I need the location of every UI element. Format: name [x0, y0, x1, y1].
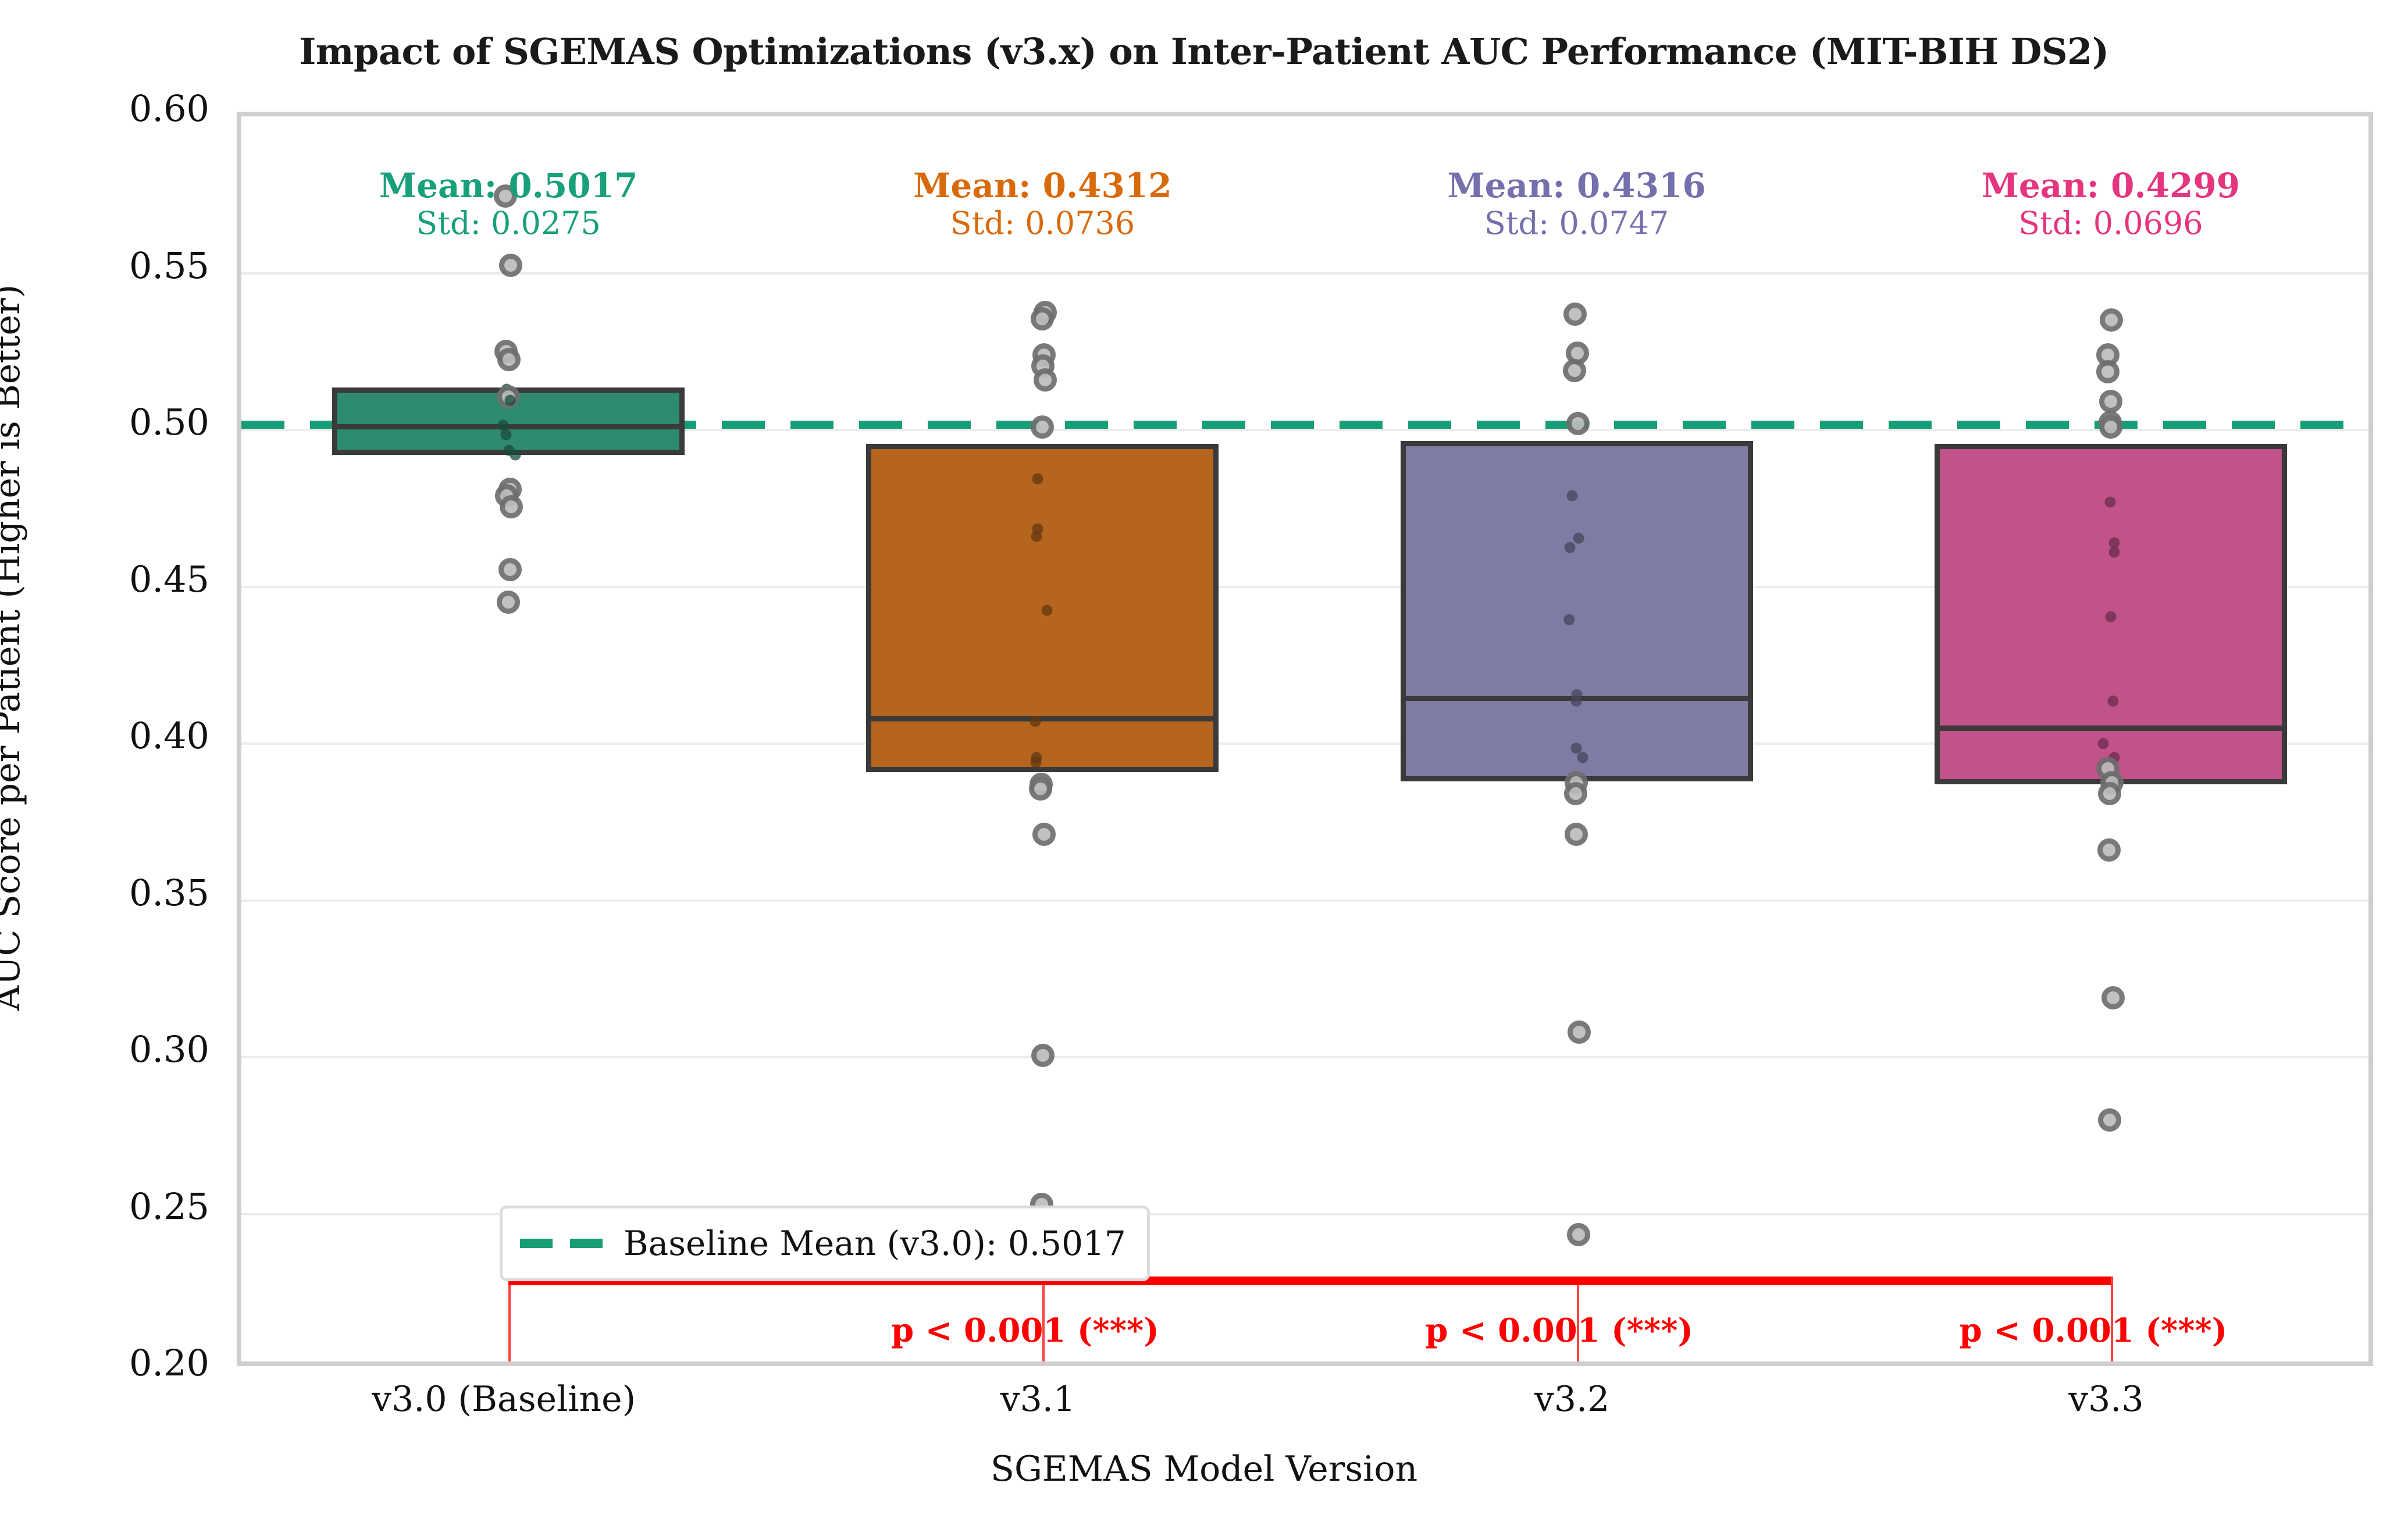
- y-tick-label: 0.20: [35, 1342, 209, 1384]
- y-axis-label: AUC Score per Patient (Higher is Better): [0, 20, 28, 1275]
- x-tick-label-v3.1: v3.1: [1000, 1379, 1075, 1420]
- x-tick-label-v3.3: v3.3: [2068, 1379, 2143, 1420]
- x-axis-label: SGEMAS Model Version: [0, 1449, 2408, 1489]
- y-tick-label: 0.45: [35, 558, 209, 600]
- figure-canvas: Impact of SGEMAS Optimizations (v3.x) on…: [0, 0, 2408, 1536]
- y-tick-label: 0.30: [35, 1028, 209, 1071]
- x-tick-label-v3.0-baseline-: v3.0 (Baseline): [372, 1379, 636, 1420]
- y-tick-label: 0.50: [35, 401, 209, 443]
- y-tick-label: 0.60: [35, 87, 209, 130]
- y-tick-label: 0.25: [35, 1185, 209, 1228]
- y-axis-ticks: 0.600.550.500.450.400.350.300.250.20: [0, 0, 2408, 1536]
- y-tick-label: 0.55: [35, 244, 209, 287]
- y-tick-label: 0.35: [35, 872, 209, 914]
- y-tick-label: 0.40: [35, 714, 209, 757]
- x-tick-label-v3.2: v3.2: [1534, 1379, 1609, 1420]
